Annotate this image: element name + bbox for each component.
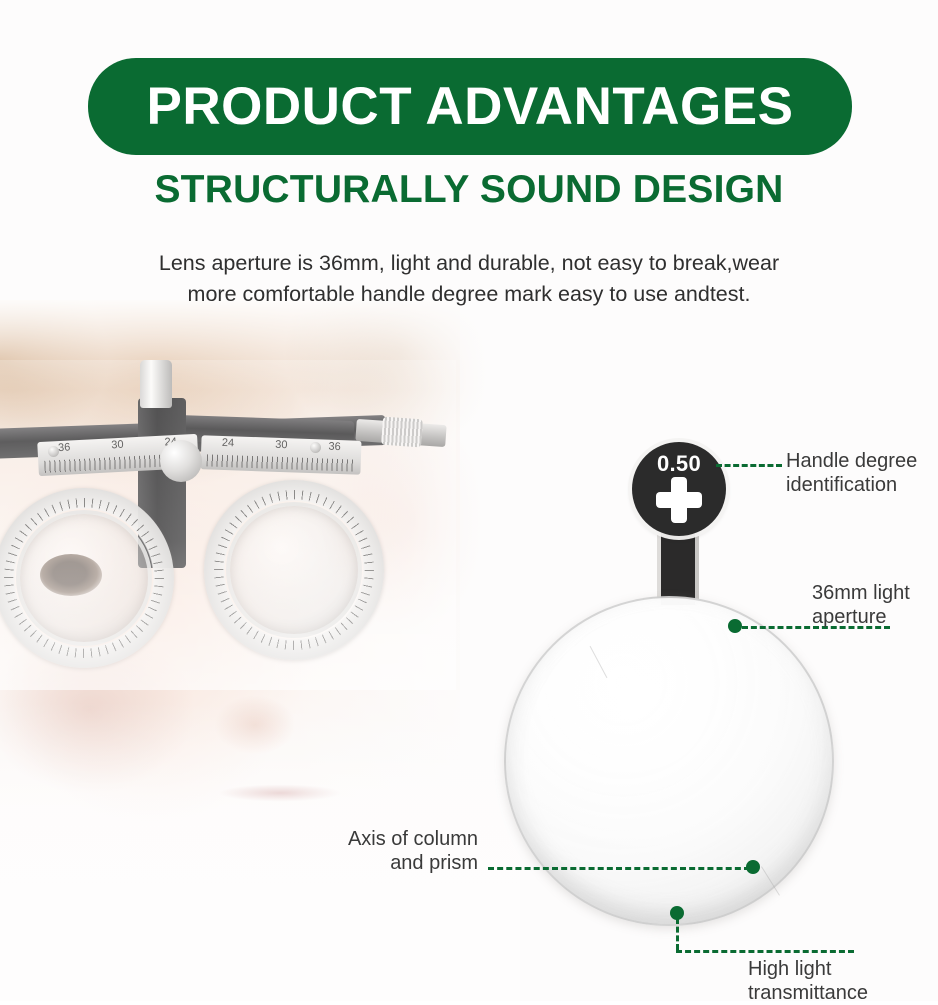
pd-scale-right-label: 30 [275,439,288,451]
callout-line-1: Axis of column [278,828,478,852]
knob-value: 0.50 [632,451,726,477]
description-line-1: Lens aperture is 36mm, light and durable… [0,248,938,279]
eye-iris [40,554,102,596]
leader-line-handle-degree [716,464,782,467]
callout-line-2: aperture [812,606,910,630]
leader-line-axis [488,867,750,870]
pd-scale-right-label: 24 [222,437,235,449]
leader-line-transmittance-vertical [676,918,679,950]
callout-high-transmittance: High light transmittance [748,958,868,1005]
callout-line-1: High light [748,958,868,982]
lens-handle-stem [657,525,699,605]
description: Lens aperture is 36mm, light and durable… [0,248,938,309]
callout-line-2: transmittance [748,982,868,1005]
pd-scale-left-label: 30 [111,439,124,452]
callout-light-aperture: 36mm light aperture [812,582,910,629]
pd-scale-right-label: 36 [328,441,341,453]
callout-axis-column-prism: Axis of column and prism [278,828,478,875]
plus-icon [656,477,702,523]
frame-arm-knob [381,417,423,448]
frame-center-knob [160,440,202,482]
lens-glass [504,596,834,926]
lens-product: 0.50 [494,432,864,952]
frame-top-knob [140,360,172,408]
trial-frame-product: 36 30 24 24 30 36 [0,360,456,690]
pd-scale-left-label: 36 [58,441,71,454]
marker-dot-aperture [728,619,742,633]
page-title: PRODUCT ADVANTAGES [147,80,794,133]
callout-line-2: and prism [278,852,478,876]
callout-line-1: 36mm light [812,582,910,606]
lens-cell-right [204,480,384,660]
frame-screw [48,446,59,457]
leader-line-transmittance-horizontal [676,950,854,953]
pd-scale-right: 24 30 36 [200,435,361,475]
description-line-2: more comfortable handle degree mark easy… [0,279,938,310]
pd-scale-ticks [207,454,355,471]
lens-cell-left [0,488,174,668]
callout-handle-degree: Handle degree identification [786,450,917,497]
handle-degree-knob: 0.50 [632,442,726,536]
banner: PRODUCT ADVANTAGES [88,58,852,155]
frame-screw [310,442,321,453]
callout-line-1: Handle degree [786,450,917,474]
callout-line-2: identification [786,474,917,498]
subtitle: STRUCTURALLY SOUND DESIGN [0,168,938,212]
lens-ring-right [226,502,362,638]
